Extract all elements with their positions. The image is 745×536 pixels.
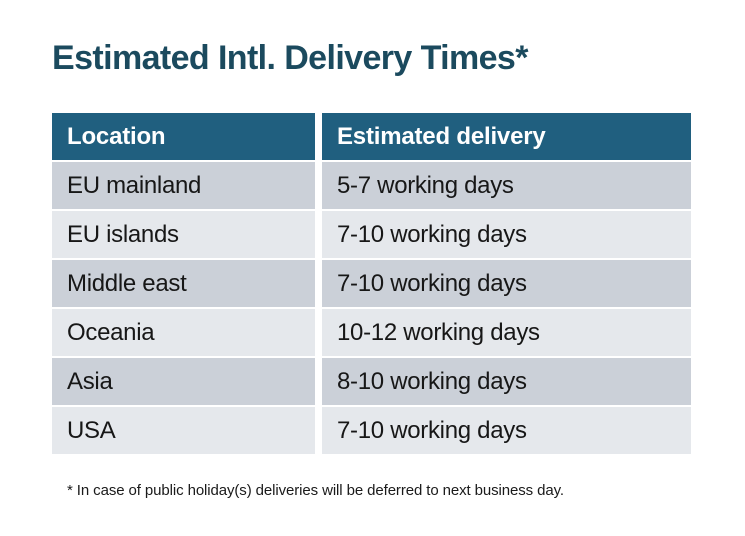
- delivery-times-page: Estimated Intl. Delivery Times* Location…: [0, 0, 745, 536]
- column-header-location: Location: [52, 113, 315, 160]
- table-row: EU islands 7-10 working days: [52, 211, 691, 258]
- cell-delivery: 8-10 working days: [322, 358, 691, 405]
- page-title: Estimated Intl. Delivery Times*: [52, 38, 528, 78]
- table-row: Middle east 7-10 working days: [52, 260, 691, 307]
- cell-location: EU islands: [52, 211, 315, 258]
- cell-location: Middle east: [52, 260, 315, 307]
- delivery-times-table: Location Estimated delivery EU mainland …: [52, 113, 691, 454]
- column-header-estimated-delivery: Estimated delivery: [322, 113, 691, 160]
- cell-location: Asia: [52, 358, 315, 405]
- cell-location: USA: [52, 407, 315, 454]
- cell-delivery: 10-12 working days: [322, 309, 691, 356]
- footnote-text: * In case of public holiday(s) deliverie…: [67, 481, 564, 501]
- table-row: Oceania 10-12 working days: [52, 309, 691, 356]
- cell-delivery: 5-7 working days: [322, 162, 691, 209]
- table-header-row: Location Estimated delivery: [52, 113, 691, 160]
- cell-delivery: 7-10 working days: [322, 407, 691, 454]
- table-row: Asia 8-10 working days: [52, 358, 691, 405]
- cell-location: EU mainland: [52, 162, 315, 209]
- cell-delivery: 7-10 working days: [322, 211, 691, 258]
- table-row: USA 7-10 working days: [52, 407, 691, 454]
- cell-delivery: 7-10 working days: [322, 260, 691, 307]
- table-row: EU mainland 5-7 working days: [52, 162, 691, 209]
- cell-location: Oceania: [52, 309, 315, 356]
